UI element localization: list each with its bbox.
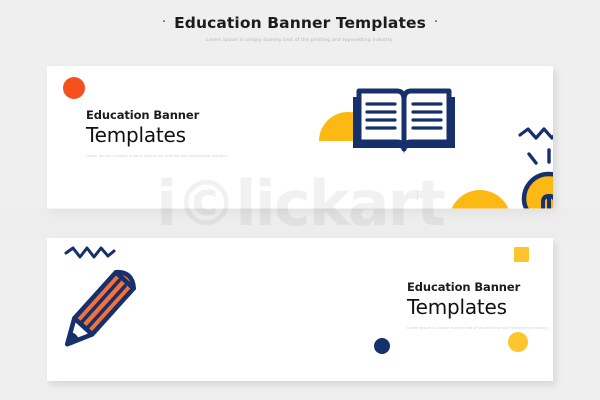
- pencil-icon: [55, 260, 141, 360]
- navy-dot-decor: [374, 338, 390, 354]
- yellow-half-circle-bottom-decor: [449, 190, 511, 209]
- page-header: · Education Banner Templates · Lorem Ips…: [0, 14, 600, 43]
- title-left-dot-icon: ·: [162, 16, 166, 29]
- banner-2-title-small: Education Banner: [407, 280, 549, 294]
- page-subtitle: Lorem Ipsum is simply dummy text of the …: [0, 38, 600, 43]
- banner-2-subtitle: Lorem Ipsum is simply dummy text of the …: [407, 326, 549, 330]
- title-right-dot-icon: ·: [434, 16, 438, 29]
- lightbulb-rays-icon: [516, 148, 553, 168]
- squiggle-icon: [63, 245, 117, 261]
- banner-1-text-block: Education Banner Templates Lorem Ipsum i…: [86, 108, 228, 158]
- banner-2-text-block: Education Banner Templates Lorem Ipsum i…: [407, 280, 549, 330]
- lightbulb-icon: [518, 166, 553, 209]
- watermark-strip: [0, 208, 600, 238]
- yellow-square-decor: [514, 247, 529, 262]
- open-book-icon: [347, 85, 461, 161]
- banner-1-title-large: Templates: [86, 123, 228, 147]
- banner-2-title-large: Templates: [407, 295, 549, 319]
- page-title: Education Banner Templates: [174, 14, 426, 32]
- orange-dot-decor: [63, 77, 85, 99]
- canvas: · Education Banner Templates · Lorem Ips…: [0, 0, 600, 400]
- yellow-dot-decor: [508, 332, 528, 352]
- banner-card-2[interactable]: Education Banner Templates Lorem Ipsum i…: [47, 238, 553, 381]
- page-title-row: · Education Banner Templates ·: [0, 14, 600, 32]
- squiggle-icon: [517, 126, 553, 143]
- banner-1-title-small: Education Banner: [86, 108, 228, 122]
- banner-card-1[interactable]: Education Banner Templates Lorem Ipsum i…: [47, 66, 553, 209]
- banner-1-subtitle: Lorem Ipsum is simply dummy text of the …: [86, 154, 228, 158]
